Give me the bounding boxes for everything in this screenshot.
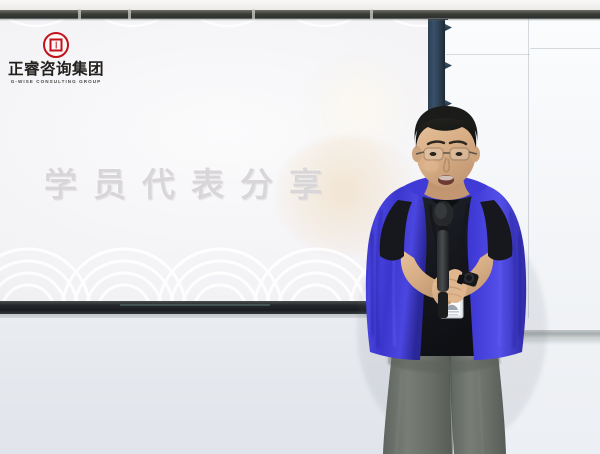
company-logo: 正睿咨询集团 G-WISE CONSULTING GROUP xyxy=(8,32,104,84)
screen-right-edge xyxy=(428,18,445,304)
wall-ledge xyxy=(446,330,600,339)
lower-wall xyxy=(0,318,448,454)
wall-ledge-shadow xyxy=(446,339,600,345)
wall-panel-seam xyxy=(528,18,529,318)
wall-right-panels xyxy=(446,18,600,454)
rail-joint xyxy=(78,9,81,20)
wall-panel-seam xyxy=(530,48,600,49)
projection-screen: 正睿咨询集团 G-WISE CONSULTING GROUP 学员代表分享 xyxy=(0,18,432,305)
company-name-en: G-WISE CONSULTING GROUP xyxy=(8,79,104,84)
slide-headline: 学员代表分享 xyxy=(44,158,338,206)
rail-joint xyxy=(128,9,131,20)
rail-joint xyxy=(252,9,255,20)
screenshot-root: 正睿咨询集团 G-WISE CONSULTING GROUP 学员代表分享 xyxy=(0,0,600,454)
ceiling-rail xyxy=(0,10,600,19)
wall-panel-seam xyxy=(446,54,530,55)
rail-joint xyxy=(370,9,373,20)
screen-bottom-bar xyxy=(0,301,436,314)
red-square-seal-icon xyxy=(43,32,69,58)
company-name-cn: 正睿咨询集团 xyxy=(8,61,104,77)
